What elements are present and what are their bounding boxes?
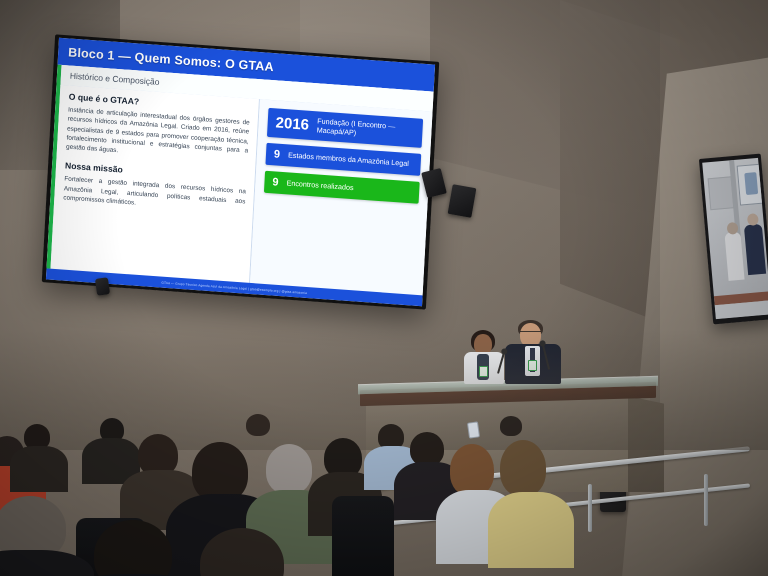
audience-head <box>410 432 444 466</box>
slide-subtitle: Histórico e Composição <box>70 71 160 87</box>
wall-speaker-center-b <box>448 184 477 218</box>
slide-left-column: O que é o GTAA? Instância de articulação… <box>50 85 259 283</box>
slide-columns: O que é o GTAA? Instância de articulação… <box>50 85 432 295</box>
slide-body: Histórico e Composição O que é o GTAA? I… <box>47 65 434 296</box>
stat-value-meetings-held: 9 <box>272 176 279 188</box>
railing-post-2 <box>588 484 592 532</box>
stat-value-member-states: 9 <box>274 148 281 160</box>
stat-card-founding: 2016 Fundação (I Encontro — Macapá/AP) <box>267 108 423 148</box>
presentation-slide: Bloco 1 — Quem Somos: O GTAA Histórico e… <box>46 38 435 307</box>
auditorium-seat <box>332 496 394 576</box>
audience-head <box>450 444 494 496</box>
stat-label-member-states: Estados membros da Amazônia Legal <box>288 150 409 168</box>
monitor-person-right <box>744 224 766 275</box>
wall-speaker-left <box>95 277 110 296</box>
railing-post-3 <box>704 474 708 526</box>
projection-screen: Bloco 1 — Quem Somos: O GTAA Histórico e… <box>42 34 439 309</box>
stat-label-founding: Fundação (I Encontro — Macapá/AP) <box>316 116 414 142</box>
audience-head <box>500 440 546 496</box>
monitor-person-left <box>724 232 744 281</box>
stat-card-meetings-held: 9 Encontros realizados <box>264 170 420 203</box>
audience-shoulders <box>10 446 68 492</box>
paragraph-what-is-gtaa: Instância de articulação interestadual d… <box>66 106 250 165</box>
seated-audience <box>0 400 540 576</box>
audience-shoulders <box>488 492 574 568</box>
audience-head <box>192 442 248 502</box>
auditorium-photo: Bloco 1 — Quem Somos: O GTAA Histórico e… <box>0 0 768 576</box>
stat-label-meetings-held: Encontros realizados <box>286 178 353 192</box>
audience-head <box>266 444 312 494</box>
stat-value-founding: 2016 <box>275 114 309 133</box>
audience-head <box>246 414 270 436</box>
stat-card-member-states: 9 Estados membros da Amazônia Legal <box>265 143 421 176</box>
phone-held-up <box>467 421 480 438</box>
slide-right-column: 2016 Fundação (I Encontro — Macapá/AP) 9… <box>250 99 433 295</box>
audience-head <box>500 416 522 436</box>
